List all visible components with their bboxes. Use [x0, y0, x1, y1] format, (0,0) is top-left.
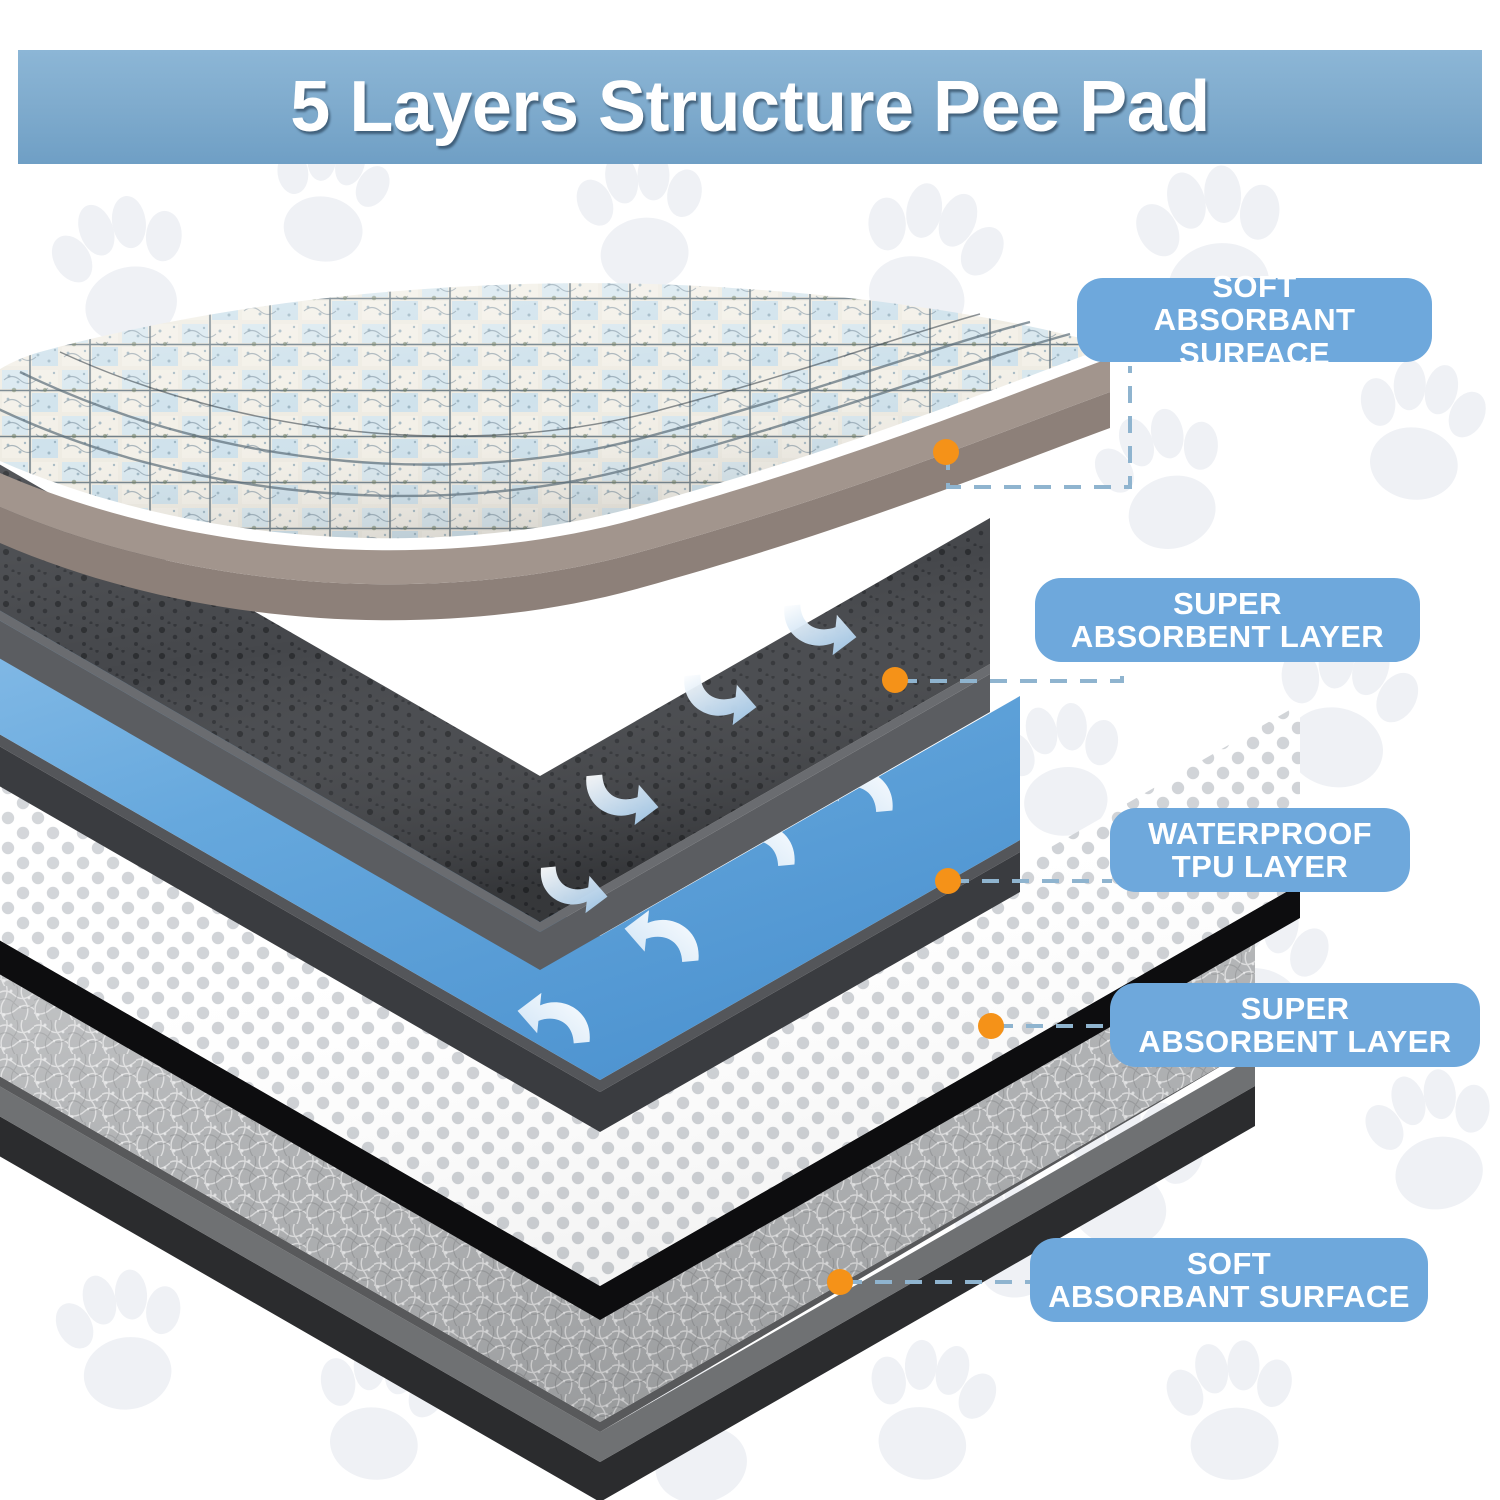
callout-line-1: SOFT: [1187, 1247, 1271, 1280]
callout-soft-absorbant-surface-bottom[interactable]: SOFT ABSORBANT SURFACE: [1030, 1238, 1428, 1322]
connector-dot-1: [933, 439, 959, 465]
callout-line-1: SOFT: [1212, 270, 1296, 303]
connector-dot-4: [978, 1013, 1004, 1039]
callout-line-1: WATERPROOF: [1148, 817, 1372, 850]
callout-super-absorbent-layer-upper[interactable]: SUPER ABSORBENT LAYER: [1035, 578, 1420, 662]
callout-line-2: ABSORBANT SURFACE: [1077, 303, 1432, 370]
callout-line-1: SUPER: [1173, 587, 1282, 620]
leader-line-1: [948, 366, 1130, 487]
callout-line-1: SUPER: [1241, 992, 1350, 1025]
callout-line-2: TPU LAYER: [1172, 850, 1348, 883]
callout-waterproof-tpu-layer[interactable]: WATERPROOF TPU LAYER: [1110, 808, 1410, 892]
callout-line-2: ABSORBANT SURFACE: [1048, 1280, 1410, 1313]
connector-dot-5: [827, 1269, 853, 1295]
connector-dots: [827, 439, 1004, 1295]
infographic-canvas: 5 Layers Structure Pee Pad: [0, 0, 1500, 1500]
callout-super-absorbent-layer-lower[interactable]: SUPER ABSORBENT LAYER: [1110, 983, 1480, 1067]
callout-soft-absorbant-surface-top[interactable]: SOFT ABSORBANT SURFACE: [1077, 278, 1432, 362]
connector-dot-3: [935, 868, 961, 894]
leader-line-2: [900, 666, 1122, 681]
callout-line-2: ABSORBENT LAYER: [1138, 1025, 1451, 1058]
connector-dot-2: [882, 667, 908, 693]
callout-line-2: ABSORBENT LAYER: [1071, 620, 1384, 653]
